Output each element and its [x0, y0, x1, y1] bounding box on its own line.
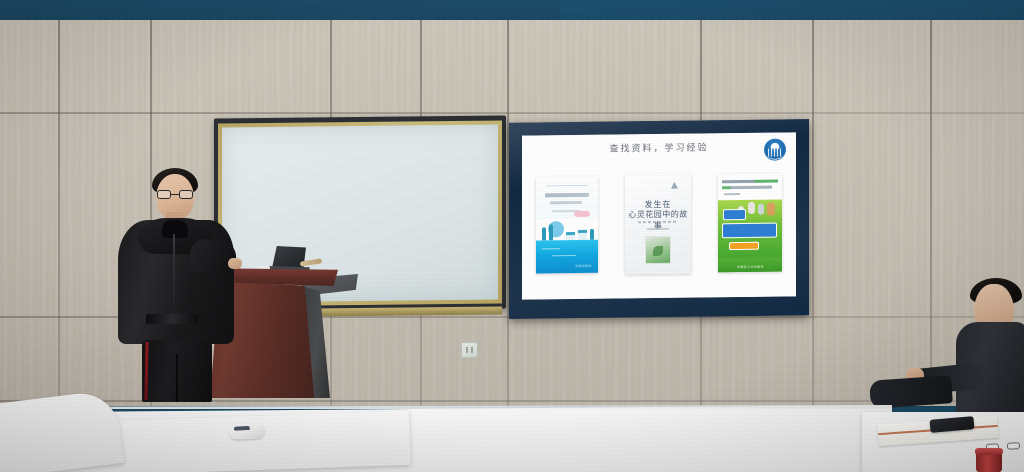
- presenter-hand: [228, 258, 242, 269]
- wall-display[interactable]: 查找资料，学习经验: [509, 119, 809, 319]
- book-cover-1: 中国出版社: [536, 177, 598, 274]
- book3-author-rule: [724, 193, 740, 195]
- thermos-cup: [976, 452, 1002, 472]
- presenter-glasses-icon: [157, 190, 193, 199]
- school-emblem-icon: [764, 138, 786, 160]
- book1-wave: [552, 255, 576, 256]
- presenter-leg-split: [176, 354, 178, 402]
- wall-seam-horizontal: [0, 112, 1024, 114]
- book1-tree: [549, 225, 553, 241]
- display-screen: 查找资料，学习经验: [522, 132, 796, 299]
- book1-tree: [542, 228, 546, 241]
- lens-left: [157, 190, 171, 199]
- glasses-bridge: [171, 194, 179, 195]
- book1-tree: [590, 229, 594, 240]
- presentation-slide: 查找资料，学习经验: [522, 132, 796, 299]
- book1-cloud: [574, 211, 590, 217]
- book3-green-field: 中国轻工业出版社: [718, 199, 782, 272]
- book3-subtitle: [729, 242, 759, 250]
- seated-attendee: [870, 282, 1024, 432]
- book2-photo: [645, 236, 671, 264]
- eyeglass-lens-right: [1007, 442, 1020, 450]
- slide-book-row: 中国出版社 发生在 心灵花园中的故事: [522, 158, 796, 289]
- book1-water: 中国出版社: [536, 240, 598, 273]
- book1-scenery: [536, 219, 598, 241]
- book3-header-rule: [722, 180, 778, 184]
- book2-mark-icon: [671, 182, 678, 189]
- book2-author-bar: [647, 228, 669, 230]
- presenter: [116, 168, 236, 400]
- book1-publisher: 中国出版社: [575, 264, 592, 268]
- book3-figure: [767, 203, 775, 216]
- wall-seam: [58, 20, 60, 440]
- book1-subtitle-bar: [550, 201, 582, 204]
- classroom-photo-scene: 查找资料，学习经验: [0, 0, 1024, 472]
- presenter-right-arm: [188, 238, 237, 277]
- book2-leaf: [653, 245, 663, 255]
- book3-figure: [748, 202, 755, 214]
- book1-house: [578, 230, 587, 240]
- presenter-jacket-panel: [146, 314, 198, 324]
- book3-header-rule: [722, 186, 772, 190]
- wall-seam: [812, 20, 814, 440]
- book1-title-bar: [545, 193, 589, 198]
- book1-house: [566, 232, 575, 240]
- presenter-collar: [162, 220, 188, 238]
- computer-mouse[interactable]: [230, 423, 265, 440]
- book-cover-3: 中国轻工业出版社: [718, 173, 782, 272]
- book3-figure: [758, 204, 764, 215]
- power-outlet-icon: [461, 342, 478, 358]
- lens-right: [179, 190, 193, 199]
- slide-title: 查找资料，学习经验: [522, 139, 796, 155]
- attendee-leg: [869, 375, 953, 409]
- book3-title-line2: [722, 223, 777, 239]
- book1-wave: [542, 249, 560, 250]
- book3-title-line1: [723, 209, 746, 220]
- book-cover-2: 发生在 心灵花园中的故事: [625, 174, 691, 275]
- book3-publisher: 中国轻工业出版社: [718, 264, 782, 269]
